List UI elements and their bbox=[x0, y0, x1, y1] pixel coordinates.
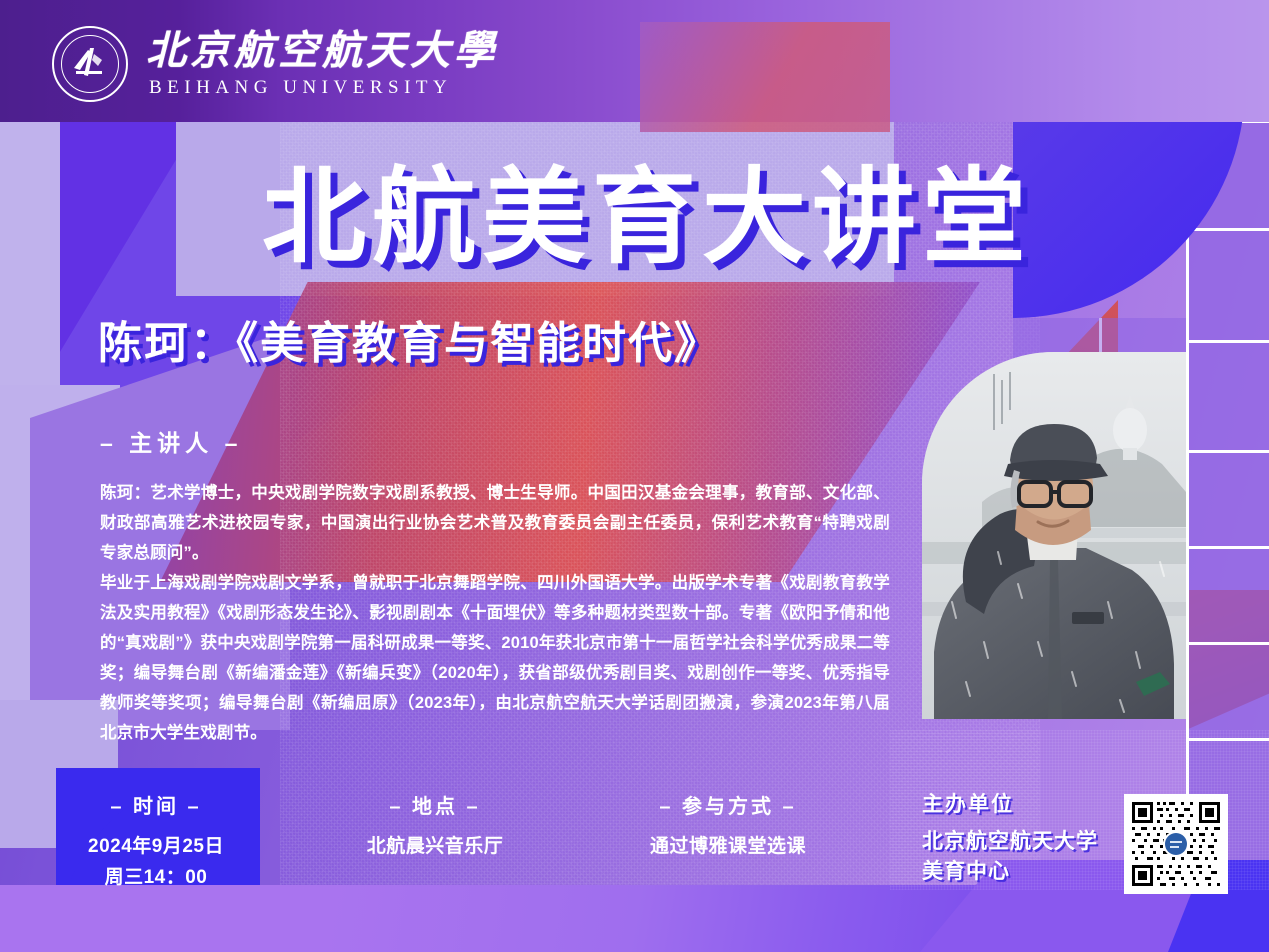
organizer-block: 主办单位 北京航空航天大学 美育中心 bbox=[922, 788, 1098, 887]
organizer-name-line-1: 北京航空航天大学 bbox=[922, 827, 1098, 857]
poster-main-title: 北航美育大讲堂 bbox=[262, 166, 1032, 270]
info-join-value: 通过博雅课堂选课 bbox=[578, 831, 878, 862]
speaker-portrait bbox=[922, 352, 1186, 719]
info-time-date: 2024年9月25日 bbox=[56, 831, 256, 862]
organizer-label: 主办单位 bbox=[922, 788, 1098, 818]
info-block-time: – 时间 – 2024年9月25日 周三14：00 bbox=[56, 790, 256, 893]
info-block-place: – 地点 – 北航晨兴音乐厅 bbox=[300, 790, 570, 862]
speaker-section-label: – 主讲人 – bbox=[100, 424, 242, 458]
poster-subtitle: 陈珂：《美育教育与智能时代》 bbox=[98, 322, 720, 366]
poster-canvas: 北京航空航天大學 BEIHANG UNIVERSITY 北航美育大讲堂 陈珂：《… bbox=[0, 0, 1269, 952]
beihang-seal-icon bbox=[52, 26, 128, 102]
info-join-label: – 参与方式 – bbox=[578, 790, 878, 819]
university-name-cn: 北京航空航天大學 bbox=[146, 30, 498, 72]
speaker-bio-paragraph-1: 陈珂：艺术学博士，中央戏剧学院数字戏剧系教授、博士生导师。中国田汉基金会理事，教… bbox=[100, 478, 890, 568]
university-logo-lockup: 北京航空航天大學 BEIHANG UNIVERSITY bbox=[52, 26, 498, 102]
speaker-bio-paragraph-2: 毕业于上海戏剧学院戏剧文学系，曾就职于北京舞蹈学院、四川外国语大学。出版学术专著… bbox=[100, 568, 890, 748]
info-place-label: – 地点 – bbox=[300, 790, 570, 819]
info-block-join: – 参与方式 – 通过博雅课堂选课 bbox=[578, 790, 878, 862]
organizer-name-line-2: 美育中心 bbox=[922, 857, 1098, 887]
university-name-en: BEIHANG UNIVERSITY bbox=[146, 77, 498, 99]
info-time-weekday: 周三14：00 bbox=[56, 862, 256, 893]
qr-code-icon[interactable] bbox=[1124, 794, 1228, 894]
info-place-value: 北航晨兴音乐厅 bbox=[300, 831, 570, 862]
info-time-label: – 时间 – bbox=[56, 790, 256, 819]
